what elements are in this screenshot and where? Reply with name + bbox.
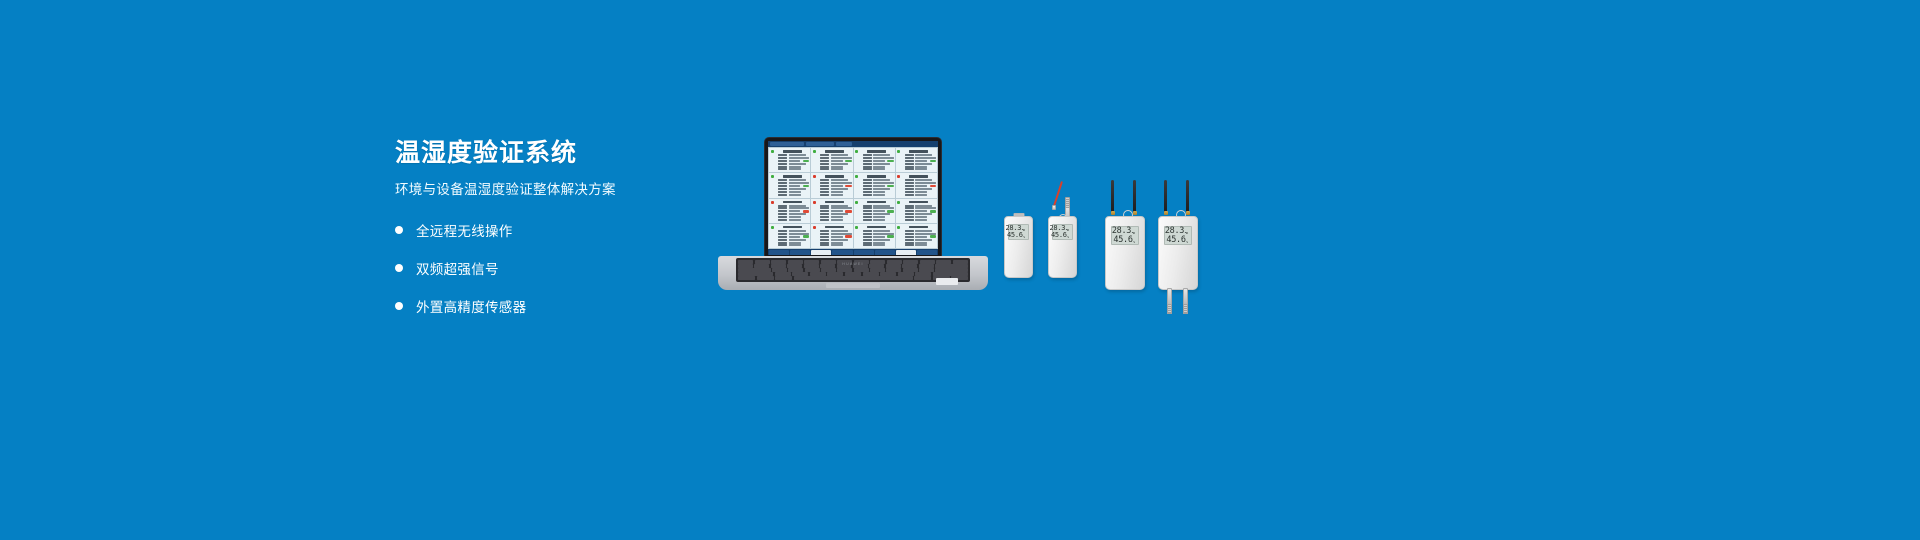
field-value bbox=[789, 207, 810, 209]
sensor-card-field bbox=[860, 242, 894, 244]
field-value bbox=[915, 182, 936, 184]
sensor-card[interactable] bbox=[769, 173, 810, 197]
sensor-card-field bbox=[860, 233, 894, 235]
sensor-card-field bbox=[775, 235, 809, 238]
field-key bbox=[820, 191, 829, 193]
sensor-card-field bbox=[860, 239, 894, 241]
sensor-card-field bbox=[860, 205, 894, 207]
field-value bbox=[915, 163, 932, 165]
feature-label-1: 全远程无线操作 bbox=[416, 220, 513, 240]
field-value bbox=[789, 182, 810, 184]
key[interactable] bbox=[772, 268, 787, 272]
toolbar-tab-1[interactable] bbox=[770, 142, 804, 146]
feature-list: 全远程无线操作 双频超强信号 外置高精度传感器 bbox=[395, 220, 725, 316]
sensor-card-field bbox=[817, 160, 851, 163]
device-lcd-display: 28.3℃ 45.6% bbox=[1008, 224, 1029, 240]
key-alt[interactable] bbox=[775, 276, 792, 280]
field-key bbox=[778, 160, 787, 162]
field-key bbox=[820, 230, 829, 232]
key[interactable] bbox=[898, 272, 914, 276]
key[interactable] bbox=[820, 264, 835, 268]
sensor-card-title bbox=[867, 175, 886, 178]
sensor-card-field bbox=[817, 154, 851, 156]
key[interactable] bbox=[738, 264, 753, 268]
sensor-card-field bbox=[775, 194, 809, 196]
sensor-card-title bbox=[909, 175, 928, 178]
external-probe-head-right bbox=[1183, 304, 1189, 314]
key-backspace[interactable] bbox=[935, 264, 968, 268]
field-value bbox=[831, 182, 852, 184]
sensor-card-field bbox=[860, 235, 894, 238]
field-key bbox=[863, 157, 872, 159]
field-key bbox=[863, 166, 872, 168]
field-key bbox=[863, 233, 872, 235]
laptop-brand-logo: HUAWEI bbox=[842, 262, 863, 266]
sensor-card[interactable] bbox=[811, 148, 852, 172]
status-dot-icon bbox=[855, 150, 858, 153]
field-status-pill bbox=[887, 185, 893, 188]
key[interactable] bbox=[886, 264, 901, 268]
sensor-card[interactable] bbox=[854, 148, 895, 172]
field-value bbox=[873, 168, 885, 170]
field-value bbox=[873, 242, 885, 244]
humidity-unit: % bbox=[1023, 236, 1025, 239]
key[interactable] bbox=[936, 260, 951, 264]
key[interactable] bbox=[805, 268, 820, 272]
field-value bbox=[831, 179, 848, 181]
field-value bbox=[873, 239, 890, 241]
field-key bbox=[820, 166, 829, 168]
field-key bbox=[778, 213, 787, 215]
field-key bbox=[778, 194, 787, 196]
sensor-card-field bbox=[902, 239, 936, 241]
sensor-card-field bbox=[817, 213, 851, 215]
key-tab[interactable] bbox=[738, 268, 771, 272]
sensor-card-title bbox=[909, 226, 928, 229]
field-key bbox=[905, 157, 914, 159]
sensor-card-field bbox=[902, 213, 936, 215]
sensor-card-field bbox=[775, 207, 809, 209]
field-value bbox=[831, 213, 848, 215]
status-dot-icon bbox=[771, 226, 774, 229]
field-key bbox=[820, 210, 829, 212]
bottom-button-3[interactable] bbox=[811, 250, 831, 255]
key[interactable] bbox=[837, 268, 852, 272]
field-key bbox=[863, 168, 872, 170]
sensor-card-field bbox=[817, 210, 851, 213]
key[interactable] bbox=[771, 264, 786, 268]
sensor-card-field bbox=[775, 242, 809, 244]
device-body: 28.3℃ 45.6% bbox=[1105, 216, 1145, 290]
sensor-card-field bbox=[860, 166, 894, 168]
sensor-card-field bbox=[817, 166, 851, 168]
antenna-right-icon bbox=[1133, 180, 1136, 213]
sensor-card[interactable] bbox=[896, 224, 937, 248]
key[interactable] bbox=[863, 272, 879, 276]
key[interactable] bbox=[792, 272, 808, 276]
field-value bbox=[873, 188, 890, 190]
status-dot-icon bbox=[771, 175, 774, 178]
field-value bbox=[789, 188, 806, 190]
field-key bbox=[778, 182, 787, 184]
sensor-card-field bbox=[902, 205, 936, 207]
field-key bbox=[905, 242, 914, 244]
sensor-card[interactable] bbox=[769, 199, 810, 223]
toolbar-tab-2[interactable] bbox=[806, 142, 834, 146]
probe-sensor-head bbox=[1065, 197, 1071, 208]
key[interactable] bbox=[886, 268, 901, 272]
field-key bbox=[820, 194, 829, 196]
field-key bbox=[778, 205, 787, 207]
field-value bbox=[831, 160, 843, 162]
field-value bbox=[915, 207, 936, 209]
bottom-button-8[interactable] bbox=[917, 250, 937, 255]
field-value bbox=[789, 233, 810, 235]
field-value bbox=[831, 188, 848, 190]
field-key bbox=[863, 191, 872, 193]
field-key bbox=[863, 179, 872, 181]
sensor-card-field bbox=[817, 239, 851, 241]
field-key bbox=[863, 213, 872, 215]
field-key bbox=[863, 207, 872, 209]
key[interactable] bbox=[787, 264, 802, 268]
sensor-card-field bbox=[817, 219, 851, 221]
key-space[interactable] bbox=[794, 276, 913, 280]
antenna-left-base bbox=[1164, 211, 1169, 215]
key[interactable] bbox=[870, 268, 885, 272]
key[interactable] bbox=[754, 264, 769, 268]
field-value bbox=[873, 179, 890, 181]
device-logger-basic: 28.3℃ 45.6% bbox=[1004, 216, 1033, 278]
sensor-card[interactable] bbox=[769, 148, 810, 172]
field-value bbox=[873, 230, 890, 232]
key-fn[interactable] bbox=[757, 276, 774, 280]
field-key bbox=[905, 205, 914, 207]
key[interactable] bbox=[804, 264, 819, 268]
key[interactable] bbox=[880, 272, 896, 276]
sensor-card-field bbox=[817, 205, 851, 207]
field-status-pill bbox=[845, 185, 851, 188]
key[interactable] bbox=[771, 260, 786, 264]
sensor-card-title bbox=[783, 175, 802, 178]
key[interactable] bbox=[869, 264, 884, 268]
field-key bbox=[863, 210, 872, 212]
field-key bbox=[778, 168, 787, 170]
sensor-card-field bbox=[902, 230, 936, 232]
sensor-card-field bbox=[860, 185, 894, 188]
bottom-button-7[interactable] bbox=[896, 250, 916, 255]
status-dot-icon bbox=[855, 201, 858, 204]
sensor-card-field bbox=[860, 157, 894, 159]
field-key bbox=[820, 157, 829, 159]
sensor-cable bbox=[1053, 181, 1063, 206]
field-key bbox=[778, 163, 787, 165]
key[interactable] bbox=[920, 260, 935, 264]
sensor-card-field bbox=[775, 154, 809, 156]
field-value bbox=[915, 166, 927, 168]
field-key bbox=[778, 239, 787, 241]
sensor-card[interactable] bbox=[811, 173, 852, 197]
field-key bbox=[863, 194, 872, 196]
bottom-button-5[interactable] bbox=[854, 250, 874, 255]
field-value bbox=[789, 168, 801, 170]
field-key bbox=[778, 210, 787, 212]
field-key bbox=[905, 233, 914, 235]
key[interactable] bbox=[870, 260, 885, 264]
sensor-card-field bbox=[817, 216, 851, 218]
field-key bbox=[863, 160, 872, 162]
field-value bbox=[789, 210, 801, 212]
sensor-card-title bbox=[909, 201, 928, 204]
field-value bbox=[915, 244, 927, 246]
key[interactable] bbox=[902, 264, 917, 268]
device-body: 28.3℃ 45.6% bbox=[1004, 216, 1033, 278]
field-value bbox=[789, 166, 801, 168]
sensor-card-title bbox=[909, 150, 928, 153]
sensor-card[interactable] bbox=[854, 173, 895, 197]
sensor-card-field bbox=[860, 230, 894, 232]
field-key bbox=[778, 157, 787, 159]
field-value bbox=[789, 213, 806, 215]
field-key bbox=[863, 205, 872, 207]
feature-item-1: 全远程无线操作 bbox=[395, 220, 725, 240]
field-value bbox=[873, 205, 890, 207]
field-key bbox=[778, 191, 787, 193]
key-shift-right[interactable] bbox=[933, 272, 968, 276]
sensor-card-field bbox=[775, 230, 809, 232]
humidity-reading: 45.6% bbox=[1051, 232, 1069, 239]
field-value bbox=[831, 230, 848, 232]
field-value bbox=[915, 157, 936, 159]
sensor-card-field bbox=[860, 154, 894, 156]
sensor-card-field bbox=[775, 233, 809, 235]
field-status-pill bbox=[803, 235, 809, 238]
key[interactable] bbox=[919, 268, 934, 272]
field-key bbox=[863, 185, 872, 187]
sensor-card-field bbox=[817, 163, 851, 165]
key[interactable] bbox=[953, 260, 968, 264]
key[interactable] bbox=[854, 268, 869, 272]
field-key bbox=[778, 179, 787, 181]
sensor-devices-group: 28.3℃ 45.6% 28.3℃ bbox=[1000, 180, 1230, 310]
sensor-card-field bbox=[817, 157, 851, 159]
field-value bbox=[873, 219, 885, 221]
key[interactable] bbox=[915, 272, 931, 276]
app-bottom-toolbar bbox=[768, 249, 938, 255]
sensor-card-field bbox=[817, 179, 851, 181]
field-key bbox=[778, 244, 787, 246]
field-value bbox=[789, 242, 801, 244]
sensor-card-title bbox=[783, 150, 802, 153]
sensor-card-title bbox=[825, 175, 844, 178]
sensor-card[interactable] bbox=[896, 173, 937, 197]
field-value bbox=[873, 194, 885, 196]
field-key bbox=[863, 242, 872, 244]
status-dot-icon bbox=[855, 226, 858, 229]
key[interactable] bbox=[755, 260, 770, 264]
field-key bbox=[778, 230, 787, 232]
field-status-pill bbox=[930, 185, 936, 188]
key[interactable] bbox=[788, 260, 803, 264]
bottom-button-2[interactable] bbox=[790, 250, 810, 255]
key[interactable] bbox=[827, 272, 843, 276]
laptop-trackpad[interactable] bbox=[826, 283, 880, 288]
field-value bbox=[915, 236, 927, 238]
field-key bbox=[820, 188, 829, 190]
field-status-pill bbox=[930, 235, 936, 238]
field-key bbox=[863, 182, 872, 184]
field-value bbox=[789, 244, 801, 246]
key[interactable] bbox=[775, 272, 791, 276]
sensor-card-field bbox=[775, 168, 809, 170]
field-value bbox=[789, 154, 806, 156]
sensor-card-field bbox=[902, 210, 936, 213]
key[interactable] bbox=[845, 272, 861, 276]
feature-label-2: 双频超强信号 bbox=[416, 258, 499, 278]
field-value bbox=[789, 163, 806, 165]
sensor-card[interactable] bbox=[811, 199, 852, 223]
sensor-card-field bbox=[775, 182, 809, 184]
field-value bbox=[789, 194, 801, 196]
sensor-card[interactable] bbox=[769, 224, 810, 248]
sensor-card-field bbox=[902, 244, 936, 246]
key-shift[interactable] bbox=[738, 272, 773, 276]
sensor-card-field bbox=[860, 168, 894, 170]
sensor-card-field bbox=[775, 160, 809, 163]
sensor-card-field bbox=[860, 210, 894, 213]
field-key bbox=[863, 236, 872, 238]
laptop-screen bbox=[768, 141, 938, 255]
field-key bbox=[905, 179, 914, 181]
humidity-unit: % bbox=[1067, 236, 1069, 239]
bottom-button-1[interactable] bbox=[769, 250, 789, 255]
field-value bbox=[789, 179, 806, 181]
field-key bbox=[905, 244, 914, 246]
sensor-card-field bbox=[775, 244, 809, 246]
antenna-right-base bbox=[1186, 211, 1191, 215]
sensor-card-field bbox=[902, 235, 936, 238]
field-value bbox=[831, 205, 848, 207]
humidity-unit: % bbox=[1186, 241, 1188, 244]
key[interactable] bbox=[738, 260, 753, 264]
sensor-card-field bbox=[902, 194, 936, 196]
sensor-card-field bbox=[860, 191, 894, 193]
sensor-card-field bbox=[775, 166, 809, 168]
field-key bbox=[778, 185, 787, 187]
sensor-card-field bbox=[775, 188, 809, 190]
key[interactable] bbox=[810, 272, 826, 276]
feature-item-2: 双频超强信号 bbox=[395, 258, 725, 278]
sensor-card[interactable] bbox=[896, 199, 937, 223]
sensor-card[interactable] bbox=[854, 199, 895, 223]
sensor-card-title bbox=[867, 150, 886, 153]
field-value bbox=[789, 230, 806, 232]
sensor-card[interactable] bbox=[896, 148, 937, 172]
sensor-card-field bbox=[817, 235, 851, 238]
field-status-pill bbox=[803, 185, 809, 188]
field-key bbox=[905, 230, 914, 232]
field-key bbox=[820, 205, 829, 207]
key[interactable] bbox=[903, 260, 918, 264]
field-value bbox=[915, 210, 927, 212]
key[interactable] bbox=[821, 260, 836, 264]
status-dot-icon bbox=[813, 201, 816, 204]
field-value bbox=[873, 191, 885, 193]
bottom-button-6[interactable] bbox=[875, 250, 895, 255]
key[interactable] bbox=[804, 260, 819, 264]
humidity-value: 45.6 bbox=[1166, 236, 1185, 245]
sensor-card[interactable] bbox=[854, 224, 895, 248]
field-key bbox=[778, 242, 787, 244]
sensor-card-field bbox=[902, 207, 936, 209]
sensor-card-field bbox=[902, 233, 936, 235]
device-lcd-display: 28.3℃ 45.6% bbox=[1111, 226, 1139, 245]
field-value bbox=[789, 236, 801, 238]
status-dot-icon bbox=[813, 175, 816, 178]
key[interactable] bbox=[919, 264, 934, 268]
key-ctrl[interactable] bbox=[738, 276, 755, 280]
sensor-card-field bbox=[902, 163, 936, 165]
sensor-card-field bbox=[860, 219, 894, 221]
sensor-card-field bbox=[817, 185, 851, 188]
field-key bbox=[905, 219, 914, 221]
toolbar-tab-3[interactable] bbox=[836, 142, 852, 146]
key-enter[interactable] bbox=[935, 268, 968, 272]
key[interactable] bbox=[887, 260, 902, 264]
field-value bbox=[831, 210, 843, 212]
field-key bbox=[778, 236, 787, 238]
field-status-pill bbox=[845, 235, 851, 238]
field-key bbox=[863, 219, 872, 221]
status-dot-icon bbox=[897, 150, 900, 153]
key[interactable] bbox=[821, 268, 836, 272]
field-value bbox=[831, 194, 843, 196]
humidity-reading: 45.6% bbox=[1166, 236, 1188, 245]
field-key bbox=[778, 207, 787, 209]
key[interactable] bbox=[903, 268, 918, 272]
keyboard-row bbox=[738, 272, 968, 276]
sensor-card-field bbox=[902, 179, 936, 181]
sensor-card[interactable] bbox=[811, 224, 852, 248]
key-alt-right[interactable] bbox=[914, 276, 931, 280]
sensor-card-field bbox=[902, 154, 936, 156]
field-value bbox=[915, 160, 927, 162]
sensor-card-title bbox=[825, 150, 844, 153]
field-key bbox=[905, 160, 914, 162]
status-dot-icon bbox=[771, 201, 774, 204]
sensor-card-title bbox=[825, 226, 844, 229]
antenna-right-base bbox=[1133, 211, 1138, 215]
humidity-unit: % bbox=[1133, 241, 1135, 244]
page-title: 温湿度验证系统 bbox=[395, 140, 725, 168]
field-value bbox=[789, 185, 801, 187]
humidity-reading: 45.6% bbox=[1007, 232, 1025, 239]
bullet-dot-icon bbox=[395, 226, 403, 234]
sensor-card-field bbox=[817, 230, 851, 232]
sensor-card-field bbox=[817, 191, 851, 193]
field-status-pill bbox=[845, 210, 851, 213]
key[interactable] bbox=[788, 268, 803, 272]
field-value bbox=[831, 216, 843, 218]
field-value bbox=[831, 242, 843, 244]
status-dot-icon bbox=[813, 150, 816, 153]
device-logger-wireless-2: 28.3℃ 45.6% bbox=[1158, 180, 1198, 290]
keyboard-row bbox=[738, 276, 968, 280]
sensor-card-field bbox=[775, 239, 809, 241]
bottom-button-4[interactable] bbox=[832, 250, 852, 255]
field-key bbox=[905, 236, 914, 238]
sensor-card-field bbox=[902, 219, 936, 221]
